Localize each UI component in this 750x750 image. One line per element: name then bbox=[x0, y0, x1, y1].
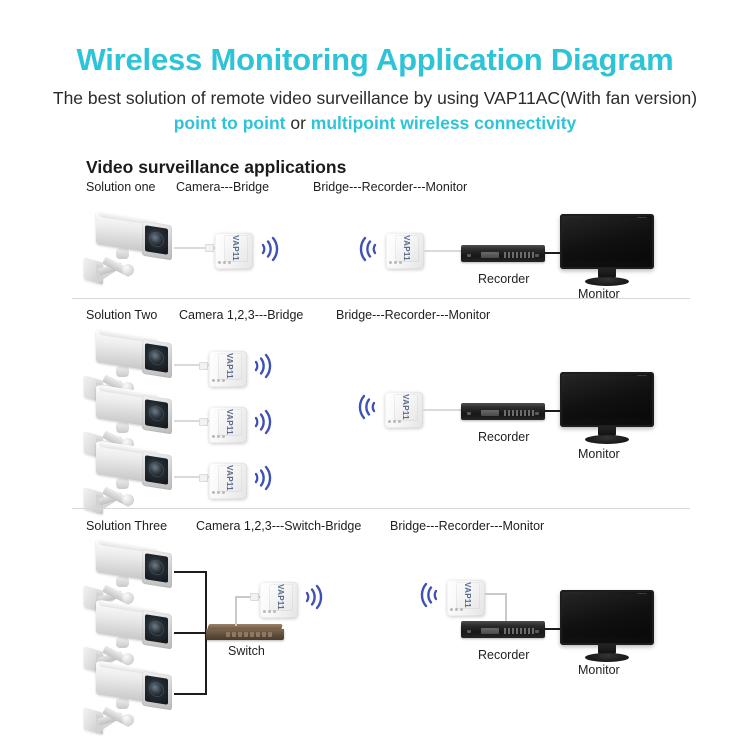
recorder-led-left-icon bbox=[467, 412, 471, 415]
monitor-screen-icon bbox=[564, 594, 650, 637]
subtitle-highlight-point-to-point: point to point bbox=[174, 113, 286, 133]
subtitle-text-or: or bbox=[285, 113, 310, 133]
bridge-led-indicators bbox=[263, 610, 276, 613]
bridge-plug-icon bbox=[205, 244, 214, 252]
switch-caption: Switch bbox=[228, 644, 265, 658]
section-divider bbox=[72, 298, 690, 299]
bridge-logo: VAP11 bbox=[227, 236, 245, 260]
recorder-led-right-icon bbox=[535, 254, 539, 257]
recorder-buttons-icon bbox=[504, 410, 534, 416]
recorder-display-icon bbox=[481, 410, 499, 416]
bridge-led-indicators bbox=[389, 261, 402, 264]
bridge-plug-icon bbox=[250, 593, 259, 601]
bridge-led-indicators bbox=[212, 435, 225, 438]
bridge-logo: VAP11 bbox=[221, 466, 239, 490]
bridge-logo: VAP11 bbox=[221, 410, 239, 434]
solution-two-right-flow: Bridge---Recorder---Monitor bbox=[336, 308, 490, 322]
vap11ac-bridge: VAP11 bbox=[205, 404, 251, 446]
wifi-signal-icon bbox=[252, 351, 278, 381]
solution-one-name: Solution one bbox=[86, 180, 156, 194]
wifi-signal-icon bbox=[303, 582, 329, 612]
display-monitor bbox=[560, 590, 654, 662]
bridge-logo: VAP11 bbox=[397, 395, 415, 419]
vap11ac-bridge: VAP11 bbox=[382, 230, 428, 272]
camera-knuckle-icon bbox=[116, 478, 129, 489]
display-monitor bbox=[560, 372, 654, 444]
switch-to-bridge-cable bbox=[235, 596, 237, 626]
section-divider bbox=[72, 508, 690, 509]
camera-joint-icon bbox=[122, 494, 134, 506]
vap11ac-bridge: VAP11 bbox=[256, 579, 302, 621]
wifi-signal-icon bbox=[259, 234, 285, 264]
recorder-led-right-icon bbox=[535, 630, 539, 633]
recorder-caption: Recorder bbox=[478, 430, 529, 444]
page-title: Wireless Monitoring Application Diagram bbox=[0, 42, 750, 78]
cctv-camera bbox=[82, 662, 178, 740]
vap11ac-bridge: VAP11 bbox=[381, 389, 427, 431]
recorder-display-icon bbox=[481, 252, 499, 258]
camera-joint-icon bbox=[122, 714, 134, 726]
camera-knuckle-icon bbox=[116, 698, 129, 709]
wifi-signal-icon bbox=[352, 392, 378, 422]
ethernet-cable bbox=[423, 409, 465, 411]
monitor-caption: Monitor bbox=[578, 447, 620, 461]
bridge-logo: VAP11 bbox=[398, 236, 416, 260]
wifi-signal-icon bbox=[252, 463, 278, 493]
recorder-caption: Recorder bbox=[478, 648, 529, 662]
recorder-led-left-icon bbox=[467, 254, 471, 257]
recorder-buttons-icon bbox=[504, 628, 534, 634]
bridge-led-indicators bbox=[450, 608, 463, 611]
camera-bus-link bbox=[174, 693, 207, 695]
camera-bus-link bbox=[174, 632, 207, 634]
camera-knuckle-icon bbox=[116, 637, 129, 648]
recorder-caption: Recorder bbox=[478, 272, 529, 286]
bridge-led-indicators bbox=[212, 491, 225, 494]
solution-one-right-flow: Bridge---Recorder---Monitor bbox=[313, 180, 467, 194]
vap11ac-bridge: VAP11 bbox=[211, 230, 257, 272]
solution-three-left-flow: Camera 1,2,3---Switch-Bridge bbox=[196, 519, 361, 533]
bridge-logo: VAP11 bbox=[221, 354, 239, 378]
camera-bus-link bbox=[174, 571, 207, 573]
wifi-signal-icon bbox=[252, 407, 278, 437]
video-recorder bbox=[461, 403, 545, 423]
bridge-plug-icon bbox=[199, 418, 208, 426]
solution-one-left-flow: Camera---Bridge bbox=[176, 180, 269, 194]
monitor-base-icon bbox=[585, 277, 629, 286]
monitor-base-icon bbox=[585, 653, 629, 662]
monitor-caption: Monitor bbox=[578, 663, 620, 677]
section-heading: Video surveillance applications bbox=[86, 157, 346, 178]
solution-two-name: Solution Two bbox=[86, 308, 157, 322]
monitor-screen-icon bbox=[564, 376, 650, 419]
monitor-base-icon bbox=[585, 435, 629, 444]
recorder-display-icon bbox=[481, 628, 499, 634]
vap11ac-bridge: VAP11 bbox=[205, 460, 251, 502]
display-monitor bbox=[560, 214, 654, 286]
camera-knuckle-icon bbox=[116, 366, 129, 377]
wifi-signal-icon bbox=[353, 234, 379, 264]
switch-ports-icon bbox=[226, 632, 272, 637]
recorder-led-left-icon bbox=[467, 630, 471, 633]
wifi-signal-icon bbox=[414, 580, 440, 610]
subtitle-highlight-multipoint: multipoint wireless connectivity bbox=[311, 113, 576, 133]
bridge-logo: VAP11 bbox=[459, 583, 477, 607]
diagram-page: Wireless Monitoring Application Diagram … bbox=[0, 0, 750, 750]
vap11ac-bridge: VAP11 bbox=[443, 577, 489, 619]
monitor-screen-icon bbox=[564, 218, 650, 261]
video-recorder bbox=[461, 621, 545, 641]
bridge-led-indicators bbox=[218, 261, 231, 264]
cctv-camera bbox=[82, 212, 178, 290]
camera-knuckle-icon bbox=[116, 576, 129, 587]
bridge-led-indicators bbox=[388, 420, 401, 423]
bridge-logo: VAP11 bbox=[272, 585, 290, 609]
network-switch bbox=[206, 624, 284, 642]
camera-joint-icon bbox=[122, 264, 134, 276]
page-subtitle: The best solution of remote video survei… bbox=[45, 86, 705, 136]
solution-two-left-flow: Camera 1,2,3---Bridge bbox=[179, 308, 303, 322]
camera-knuckle-icon bbox=[116, 422, 129, 433]
recorder-led-right-icon bbox=[535, 412, 539, 415]
bridge-plug-icon bbox=[199, 474, 208, 482]
recorder-buttons-icon bbox=[504, 252, 534, 258]
vap11ac-bridge: VAP11 bbox=[205, 348, 251, 390]
bridge-to-recorder-cable bbox=[485, 593, 507, 595]
ethernet-cable bbox=[424, 250, 466, 252]
bridge-led-indicators bbox=[212, 379, 225, 382]
solution-three-name: Solution Three bbox=[86, 519, 167, 533]
subtitle-text-1: The best solution of remote video survei… bbox=[53, 88, 697, 108]
video-recorder bbox=[461, 245, 545, 265]
bridge-plug-icon bbox=[199, 362, 208, 370]
solution-three-right-flow: Bridge---Recorder---Monitor bbox=[390, 519, 544, 533]
camera-knuckle-icon bbox=[116, 248, 129, 259]
